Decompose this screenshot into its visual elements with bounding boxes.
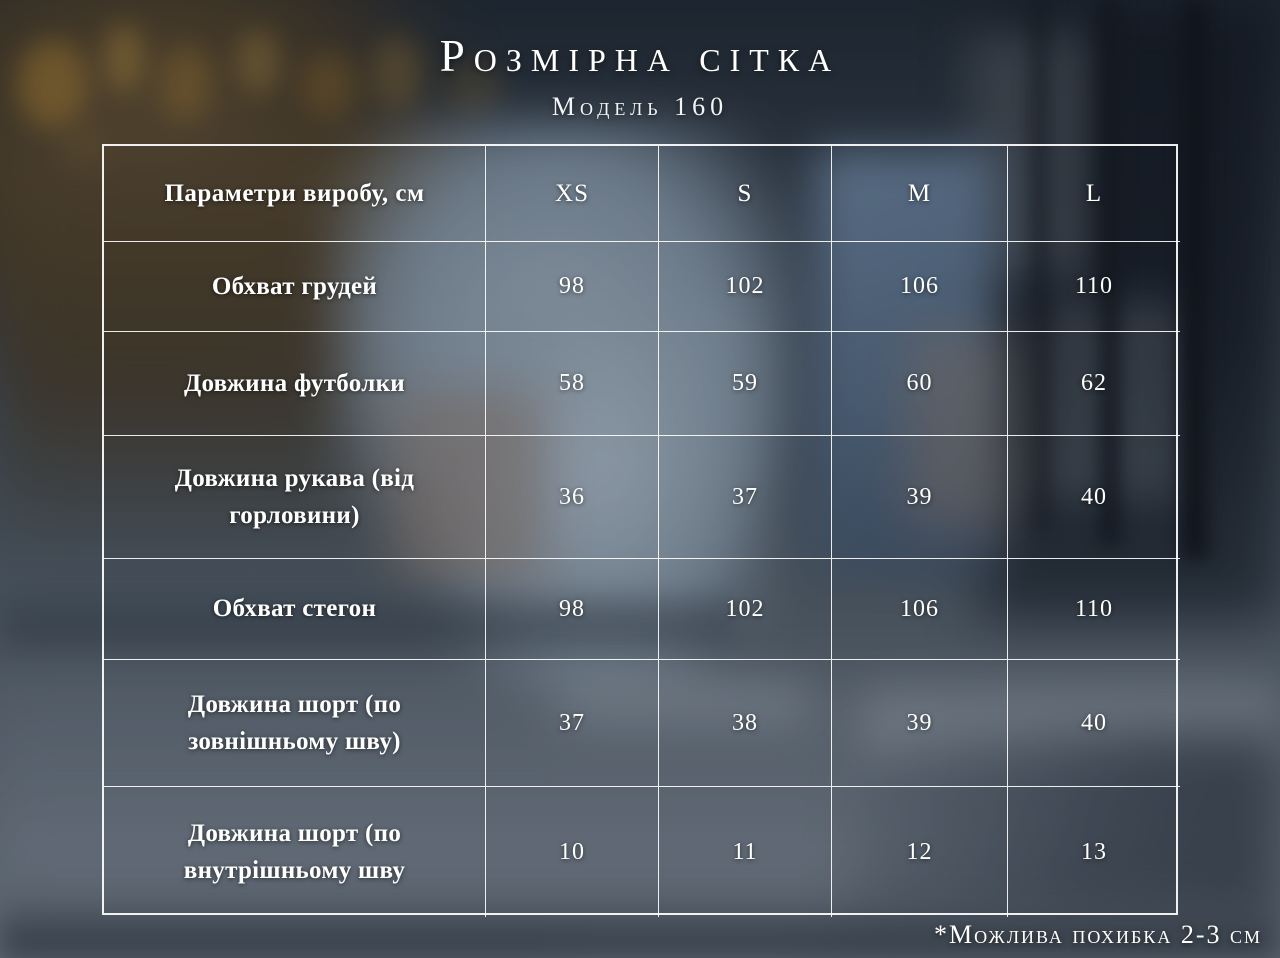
- table-cell-value: 11: [659, 787, 832, 917]
- table-header-size-l: L: [1008, 146, 1180, 242]
- table-row-label: Обхват стегон: [104, 559, 486, 660]
- table-row-label: Довжина рукава (від горловини): [104, 436, 486, 559]
- table-cell-value: 102: [659, 559, 832, 660]
- table-cell-value: 98: [486, 559, 659, 660]
- table-row-label: Довжина футболки: [104, 332, 486, 436]
- table-cell-value: 60: [832, 332, 1008, 436]
- table-cell-value: 110: [1008, 242, 1180, 332]
- tolerance-footnote: *Можлива похибка 2-3 см: [934, 920, 1262, 950]
- table-cell-value: 62: [1008, 332, 1180, 436]
- table-header-parameter: Параметри виробу, см: [104, 146, 486, 242]
- table-row-label: Довжина шорт (по зовнішньому шву): [104, 660, 486, 787]
- table-row-label: Довжина шорт (по внутрішньому шву: [104, 787, 486, 917]
- table-cell-value: 38: [659, 660, 832, 787]
- table-cell-value: 40: [1008, 436, 1180, 559]
- table-cell-value: 106: [832, 242, 1008, 332]
- size-chart-table: Параметри виробу, см XS S M L Обхват гру…: [102, 144, 1178, 915]
- table-cell-value: 37: [659, 436, 832, 559]
- table-cell-value: 58: [486, 332, 659, 436]
- table-cell-value: 98: [486, 242, 659, 332]
- table-cell-value: 106: [832, 559, 1008, 660]
- page-title: Розмірна сітка: [0, 30, 1280, 82]
- table-header-size-xs: XS: [486, 146, 659, 242]
- table-cell-value: 40: [1008, 660, 1180, 787]
- table-cell-value: 39: [832, 660, 1008, 787]
- table-cell-value: 12: [832, 787, 1008, 917]
- page-subtitle: Модель 160: [0, 92, 1280, 122]
- table-cell-value: 13: [1008, 787, 1180, 917]
- table-header-size-s: S: [659, 146, 832, 242]
- table-cell-value: 102: [659, 242, 832, 332]
- table-cell-value: 36: [486, 436, 659, 559]
- table-cell-value: 10: [486, 787, 659, 917]
- table-cell-value: 37: [486, 660, 659, 787]
- table-header-size-m: M: [832, 146, 1008, 242]
- table-cell-value: 59: [659, 332, 832, 436]
- table-cell-value: 110: [1008, 559, 1180, 660]
- table-row-label: Обхват грудей: [104, 242, 486, 332]
- table-cell-value: 39: [832, 436, 1008, 559]
